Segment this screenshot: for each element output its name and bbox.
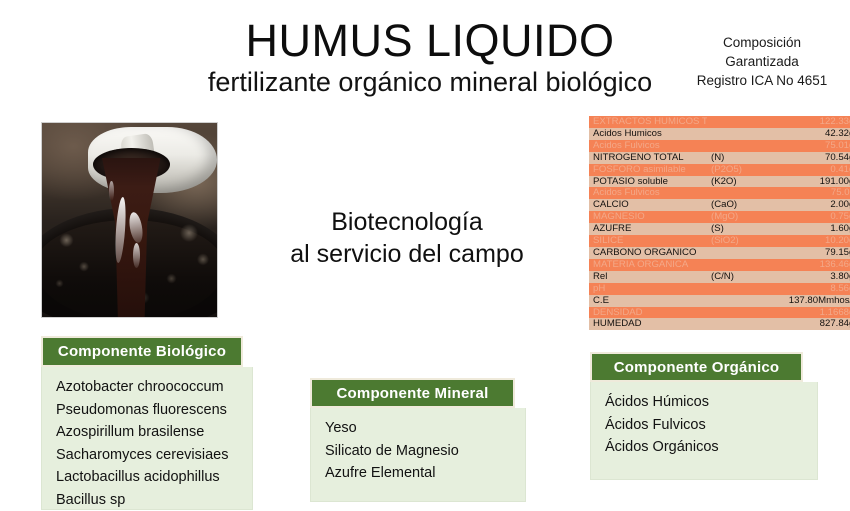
table-cell-value: 75.01gr/lt [773, 140, 850, 152]
table-cell-value: 10.20gr/lt [773, 235, 850, 247]
table-cell-symbol [707, 140, 773, 152]
table-cell-value: 42.32gr/lt [773, 128, 850, 140]
table-cell-symbol [707, 259, 773, 271]
composition-table-body: EXTRACTOS HUMICOS TOTAL122.33gr/ltAcidos… [589, 116, 850, 330]
table-cell-symbol [707, 307, 773, 319]
table-cell-name: POTASIO soluble [589, 176, 707, 188]
table-cell-name: CALCIO [589, 199, 707, 211]
table-cell-symbol: (S) [707, 223, 773, 235]
list-item: Lactobacillus acidophillus [56, 466, 240, 489]
table-cell-name: NITROGENO TOTAL [589, 152, 707, 164]
table-cell-symbol [707, 128, 773, 140]
panel-componente-mineral: Componente Mineral YesoSilicato de Magne… [310, 378, 526, 502]
list-item: Ácidos Fulvicos [605, 414, 805, 437]
panel-organico-list: Ácidos HúmicosÁcidos FulvicosÁcidos Orgá… [605, 391, 805, 459]
slogan-line-2: al servicio del campo [262, 238, 552, 270]
table-cell-symbol [707, 247, 773, 259]
page-title: HUMUS LIQUIDO [150, 16, 710, 66]
table-row: FOSFORO asimilable(P2O5)0.41gr/lt [589, 164, 850, 176]
table-cell-name: CARBONO ORGANICO [589, 247, 707, 259]
table-row: CARBONO ORGANICO79.15gr/lt [589, 247, 850, 259]
table-cell-name: MATERIA ORGANICA [589, 259, 707, 271]
table-cell-name: C.E [589, 295, 707, 307]
table-cell-value: 3.80gr/lt [773, 271, 850, 283]
table-cell-value: 137.80Mmhos/cm [707, 295, 850, 307]
table-cell-value: 79.15gr/lt [773, 247, 850, 259]
list-item: Bacillus sp [56, 489, 240, 511]
table-row: C.E137.80Mmhos/cm [589, 295, 850, 307]
table-row: MATERIA ORGANICA136.46gr/lt [589, 259, 850, 271]
table-row: DENSIDAD1.1668gr/lt [589, 307, 850, 319]
table-cell-symbol: (CaO) [707, 199, 773, 211]
table-cell-name: Acidos Fulvicos [589, 187, 707, 199]
table-cell-symbol [707, 318, 773, 330]
table-row: AZUFRE(S)1.60gr/lt [589, 223, 850, 235]
table-cell-value: 122.33gr/lt [773, 116, 850, 128]
table-cell-symbol [707, 283, 773, 295]
table-cell-name: MAGNESIO [589, 211, 707, 223]
table-cell-name: AZUFRE [589, 223, 707, 235]
table-row: pH8.56gr/lt [589, 283, 850, 295]
list-item: Azufre Elemental [325, 462, 513, 485]
table-row: Acidos Fulvicos75.01gr/lt [589, 140, 850, 152]
table-cell-value: 1.60gr/lt [773, 223, 850, 235]
panel-biologico-list: Azotobacter chroococcumPseudomonas fluor… [56, 376, 240, 511]
list-item: Ácidos Húmicos [605, 391, 805, 414]
panel-mineral-list: YesoSilicato de MagnesioAzufre Elemental [325, 417, 513, 485]
table-cell-value: 827.84gr/lt [773, 318, 850, 330]
table-row: Acidos Fulvicos75.01g/l [589, 187, 850, 199]
table-cell-symbol: (C/N) [707, 271, 773, 283]
table-cell-name: EXTRACTOS HUMICOS TOTAL [589, 116, 707, 128]
table-row: SILICE(SiO2)10.20gr/lt [589, 235, 850, 247]
registration-line-2: Garantizada [676, 52, 848, 71]
table-row: POTASIO soluble(K2O)191.00gr/lt [589, 176, 850, 188]
table-row: CALCIO(CaO)2.00gr/lt [589, 199, 850, 211]
table-row: MAGNESIO(MgO)0.75gr/lt [589, 211, 850, 223]
table-row: NITROGENO TOTAL(N)70.54gr/lt [589, 152, 850, 164]
panel-mineral-body: YesoSilicato de MagnesioAzufre Elemental [310, 408, 526, 502]
table-cell-name: Rel [589, 271, 707, 283]
table-cell-name: FOSFORO asimilable [589, 164, 707, 176]
table-row: Rel(C/N)3.80gr/lt [589, 271, 850, 283]
table-cell-value: 8.56gr/lt [773, 283, 850, 295]
registration-block: Composición Garantizada Registro ICA No … [676, 33, 848, 90]
table-row: EXTRACTOS HUMICOS TOTAL122.33gr/lt [589, 116, 850, 128]
page-subtitle: fertilizante orgánico mineral biológico [120, 66, 740, 98]
table-cell-symbol: (MgO) [707, 211, 773, 223]
table-cell-name: Acidos Fulvicos [589, 140, 707, 152]
list-item: Ácidos Orgánicos [605, 436, 805, 459]
product-photo [41, 122, 218, 318]
table-cell-symbol: (N) [707, 152, 773, 164]
table-cell-name: HUMEDAD [589, 318, 707, 330]
table-cell-name: pH [589, 283, 707, 295]
slogan: Biotecnología al servicio del campo [262, 206, 552, 270]
poster-canvas: HUMUS LIQUIDO fertilizante orgánico mine… [0, 0, 850, 510]
table-cell-value: 70.54gr/lt [773, 152, 850, 164]
table-cell-value: 191.00gr/lt [773, 176, 850, 188]
table-cell-symbol: (P2O5) [707, 164, 773, 176]
table-cell-name: Acidos Humicos [589, 128, 707, 140]
table-cell-symbol [707, 116, 773, 128]
slogan-line-1: Biotecnología [262, 206, 552, 238]
table-cell-value: 136.46gr/lt [773, 259, 850, 271]
registration-line-1: Composición [676, 33, 848, 52]
table-cell-value: 2.00gr/lt [773, 199, 850, 211]
composition-table: EXTRACTOS HUMICOS TOTAL122.33gr/ltAcidos… [589, 116, 850, 330]
panel-componente-biologico: Componente Biológico Azotobacter chrooco… [41, 336, 253, 510]
table-cell-name: SILICE [589, 235, 707, 247]
table-cell-value: 0.75gr/lt [773, 211, 850, 223]
table-row: Acidos Humicos42.32gr/lt [589, 128, 850, 140]
table-cell-value: 1.1668gr/lt [773, 307, 850, 319]
table-cell-symbol: (SiO2) [707, 235, 773, 247]
panel-mineral-title: Componente Mineral [310, 378, 515, 408]
panel-organico-body: Ácidos HúmicosÁcidos FulvicosÁcidos Orgá… [590, 382, 818, 480]
table-cell-name: DENSIDAD [589, 307, 707, 319]
table-cell-symbol [707, 187, 773, 199]
table-cell-symbol: (K2O) [707, 176, 773, 188]
panel-biologico-body: Azotobacter chroococcumPseudomonas fluor… [41, 367, 253, 510]
panel-biologico-title: Componente Biológico [41, 336, 243, 367]
table-cell-value: 0.41gr/lt [773, 164, 850, 176]
list-item: Azotobacter chroococcum [56, 376, 240, 399]
list-item: Azospirillum brasilense [56, 421, 240, 444]
registration-line-3: Registro ICA No 4651 [676, 71, 848, 90]
list-item: Sacharomyces cerevisiaes [56, 444, 240, 467]
panel-organico-title: Componente Orgánico [590, 352, 803, 382]
table-cell-value: 75.01g/l [773, 187, 850, 199]
list-item: Pseudomonas fluorescens [56, 399, 240, 422]
photo-stream-highlight-4 [109, 181, 114, 200]
list-item: Yeso [325, 417, 513, 440]
list-item: Silicato de Magnesio [325, 440, 513, 463]
table-row: HUMEDAD827.84gr/lt [589, 318, 850, 330]
panel-componente-organico: Componente Orgánico Ácidos HúmicosÁcidos… [590, 352, 818, 480]
